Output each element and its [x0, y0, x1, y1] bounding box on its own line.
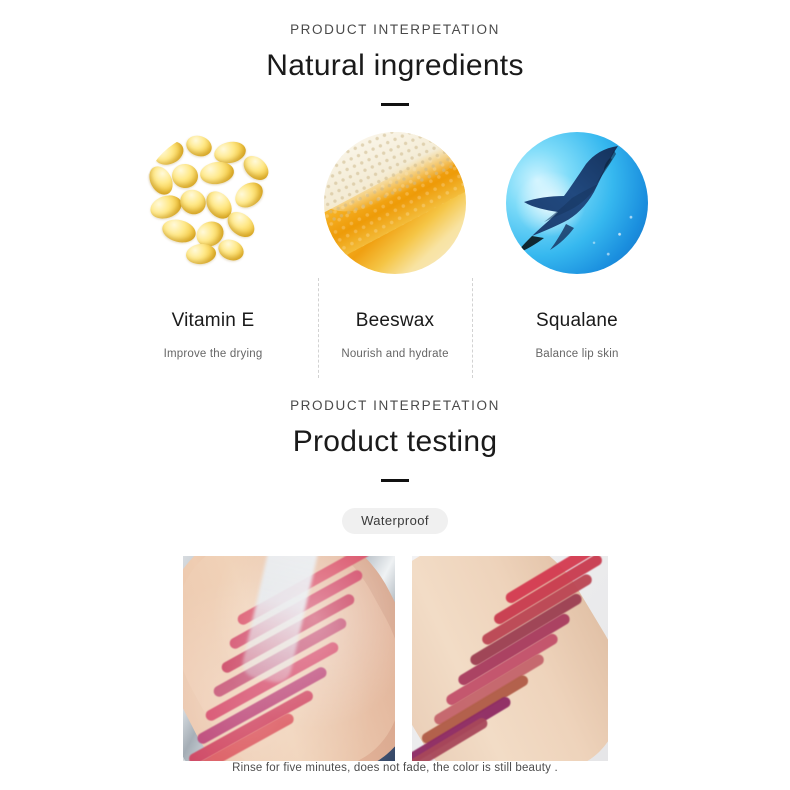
- ingredients-header: PRODUCT INTERPETATION Natural ingredient…: [0, 22, 790, 106]
- honeycomb-image: [324, 132, 466, 274]
- headline-divider-dash: [381, 103, 409, 106]
- testing-header: PRODUCT INTERPETATION Product testing: [0, 398, 790, 482]
- ingredients-eyebrow: PRODUCT INTERPETATION: [0, 22, 790, 37]
- testing-eyebrow: PRODUCT INTERPETATION: [0, 398, 790, 413]
- ingredient-card-vitamin-e[interactable]: Vitamin E Improve the drying: [135, 132, 291, 360]
- ingredients-headline: Natural ingredients: [0, 49, 790, 83]
- ingredient-name: Beeswax: [356, 310, 435, 332]
- ingredient-description: Nourish and hydrate: [341, 348, 448, 360]
- testing-headline: Product testing: [0, 425, 790, 459]
- lipstick-swatches-rinsed-photo: [183, 556, 395, 761]
- ingredients-row: Vitamin E Improve the drying Beeswax Nou…: [0, 132, 790, 360]
- lipstick-swatches-dry-photo: [412, 556, 608, 761]
- shark-underwater-image: [506, 132, 648, 274]
- waterproof-badge: Waterproof: [342, 508, 448, 534]
- column-divider-1: [318, 278, 319, 378]
- column-divider-2: [472, 278, 473, 378]
- wet-sheen-highlight: [183, 556, 395, 761]
- testing-caption: Rinse for five minutes, does not fade, t…: [0, 762, 790, 774]
- product-detail-page: PRODUCT INTERPETATION Natural ingredient…: [0, 0, 790, 790]
- vitamin-e-capsules-image: [142, 132, 284, 274]
- ingredient-card-squalane[interactable]: Squalane Balance lip skin: [499, 132, 655, 360]
- swatch-stripes: [412, 556, 608, 761]
- water-bubbles: [506, 132, 648, 274]
- ingredient-name: Vitamin E: [172, 310, 255, 332]
- natural-ingredients-section: PRODUCT INTERPETATION Natural ingredient…: [0, 22, 790, 360]
- testing-photos-row: [0, 556, 790, 761]
- headline-divider-dash: [381, 479, 409, 482]
- ingredient-description: Improve the drying: [164, 348, 263, 360]
- ingredient-description: Balance lip skin: [535, 348, 618, 360]
- product-testing-section: PRODUCT INTERPETATION Product testing Wa…: [0, 398, 790, 761]
- ingredient-card-beeswax[interactable]: Beeswax Nourish and hydrate: [317, 132, 473, 360]
- ingredient-name: Squalane: [536, 310, 618, 332]
